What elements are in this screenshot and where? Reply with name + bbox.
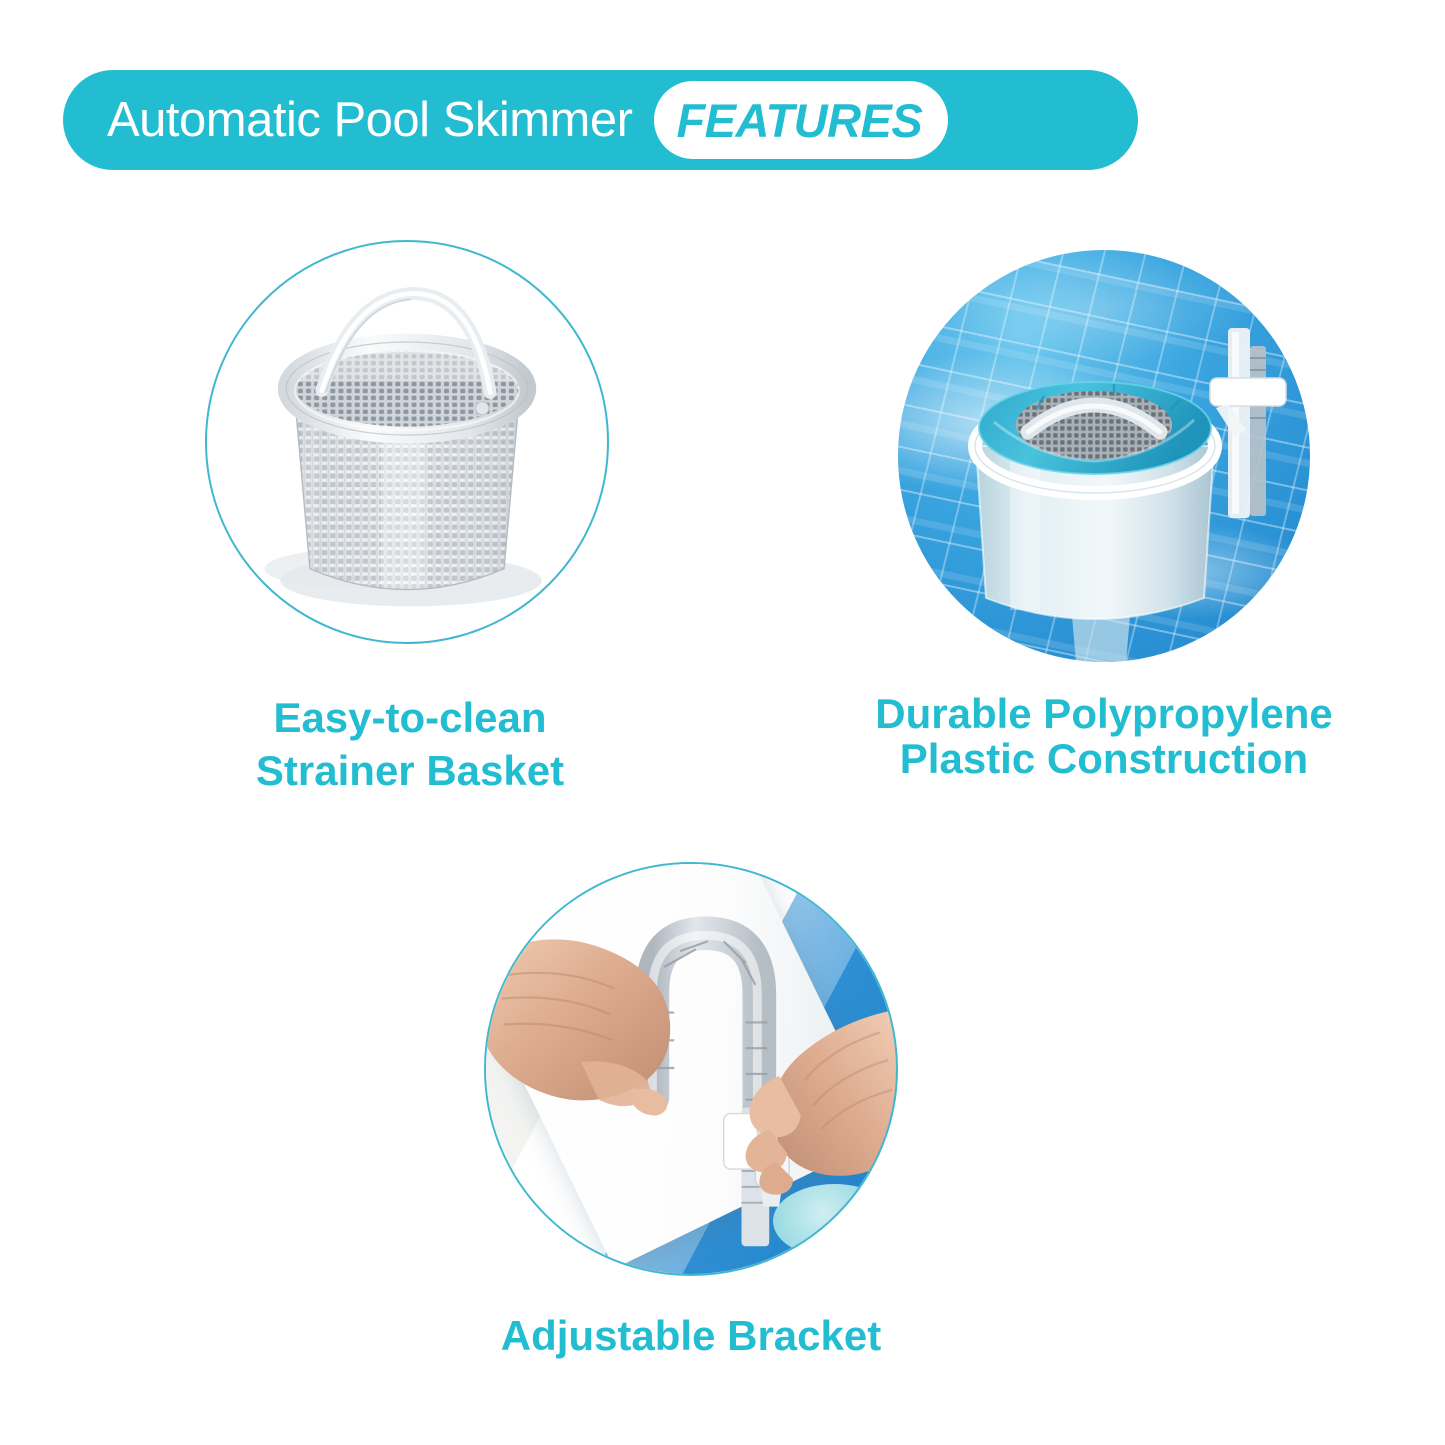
- caption-line-1: Durable Polypropylene: [816, 692, 1392, 737]
- header-banner: Automatic Pool Skimmer FEATURES: [63, 70, 1138, 170]
- feature-caption-adjustable-bracket: Adjustable Bracket: [404, 1312, 978, 1359]
- features-badge-label: FEATURES: [676, 97, 922, 144]
- caption-line-2: Strainer Basket: [205, 745, 615, 798]
- pool-skimmer-photo: [898, 250, 1310, 662]
- feature-card-adjustable-bracket: Adjustable Bracket: [484, 862, 898, 1359]
- feature-card-plastic-construction: Durable Polypropylene Plastic Constructi…: [898, 250, 1310, 781]
- skimmer-illustration: [898, 250, 1310, 662]
- adjustable-bracket-photo: [484, 862, 898, 1276]
- strainer-basket-illustration: [207, 242, 607, 642]
- caption-line-2: Plastic Construction: [816, 737, 1392, 782]
- bracket-illustration: [486, 864, 896, 1274]
- caption-line-1: Easy-to-clean: [205, 692, 615, 745]
- strainer-basket-photo: [205, 240, 609, 644]
- features-badge: FEATURES: [654, 81, 948, 159]
- caption-line-1: Adjustable Bracket: [404, 1312, 978, 1359]
- feature-card-strainer-basket: Easy-to-clean Strainer Basket: [205, 240, 615, 797]
- feature-caption-plastic-construction: Durable Polypropylene Plastic Constructi…: [816, 692, 1392, 781]
- page-title: Automatic Pool Skimmer: [107, 96, 632, 145]
- feature-caption-strainer-basket: Easy-to-clean Strainer Basket: [205, 692, 615, 797]
